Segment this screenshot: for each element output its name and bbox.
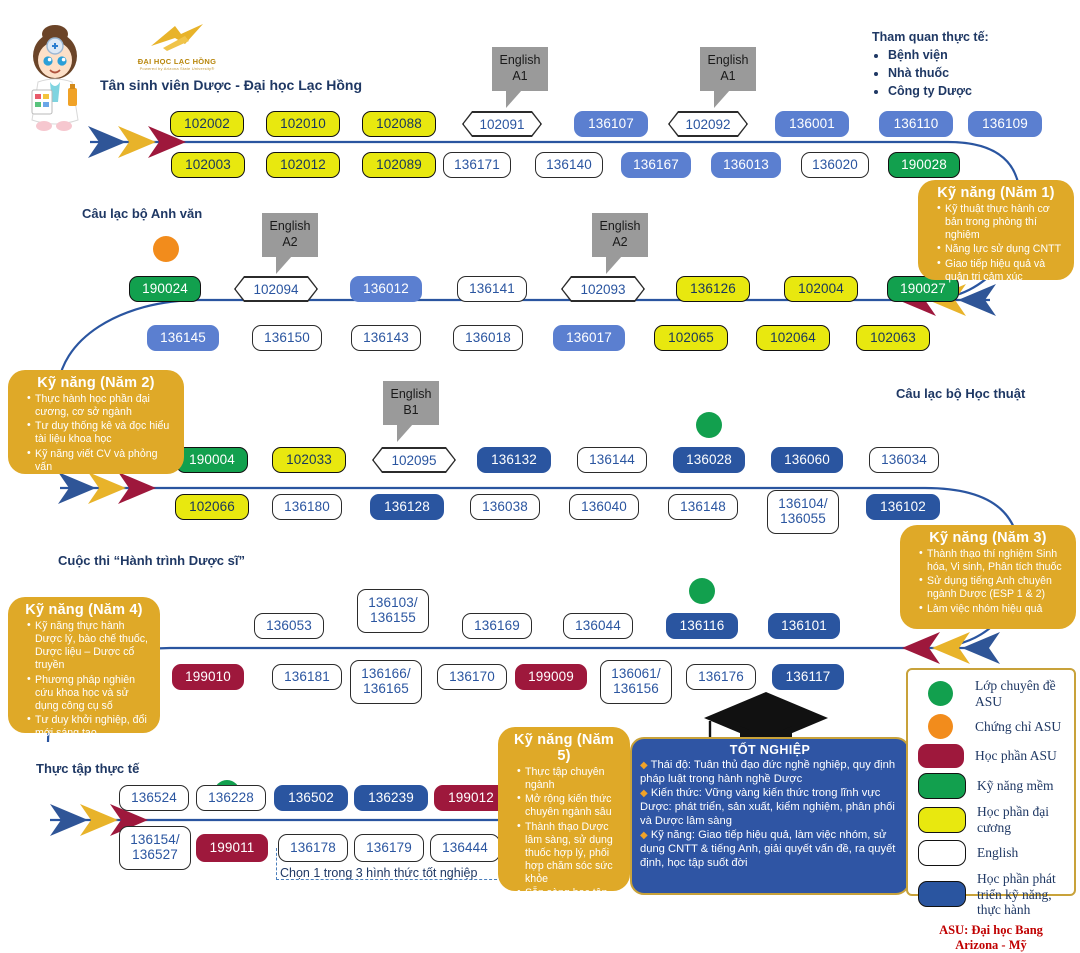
legend-label: Kỹ năng mềm	[977, 778, 1054, 794]
english-course-label: 102094	[236, 278, 317, 301]
legend-swatch-soft-skill	[918, 773, 966, 799]
course-pill[interactable]: 136110	[879, 111, 953, 137]
heading-english-club: Câu lạc bộ Anh văn	[82, 206, 202, 221]
course-pill[interactable]: 136145	[147, 325, 219, 351]
course-pill[interactable]: 136502	[274, 785, 348, 811]
legend-swatch-asu-seminar	[928, 681, 953, 706]
heading-academic-club: Câu lạc bộ Học thuật	[896, 386, 1025, 401]
skills-item: Tư duy khởi nghiệp, đổi mới sáng tạo	[28, 714, 152, 740]
course-pill[interactable]: 136038	[470, 494, 540, 520]
skills-item: Thành thạo Dược lâm sàng, sử dụng thuốc …	[518, 821, 622, 887]
legend-label: Học phần đại cương	[977, 804, 1064, 835]
course-pill[interactable]: 199012	[434, 785, 508, 811]
course-pill[interactable]: 136167	[621, 152, 691, 178]
field-trip-item: Bệnh viện	[888, 46, 989, 64]
course-pill[interactable]: 199009	[515, 664, 587, 690]
course-pill[interactable]: 136181	[272, 664, 342, 690]
skills-item: Phương pháp nghiên cứu khoa học và sử dụ…	[28, 674, 152, 713]
course-pill[interactable]: 136228	[196, 785, 266, 811]
course-pill[interactable]: 102063	[856, 325, 930, 351]
skills-item: Giao tiếp hiệu quả và quản trị cảm xúc	[938, 258, 1066, 284]
course-pill[interactable]: 136104/ 136055	[767, 490, 839, 534]
field-trip-list: Tham quan thực tế: Bệnh viện Nhà thuốc C…	[872, 30, 989, 100]
course-pill[interactable]: 136044	[563, 613, 633, 639]
skills-title: Kỹ năng (Năm 4)	[16, 602, 152, 618]
course-pill[interactable]: 136117	[772, 664, 844, 690]
english-callout: English A2	[592, 213, 648, 257]
skills-item: Thành thạo thí nghiệm Sinh hóa, Vi sinh,…	[920, 548, 1068, 574]
pharmacist-mascot-icon	[16, 22, 94, 142]
english-callout-label: English A1	[708, 53, 749, 84]
graduation-option-label: Chọn 1 trong 3 hình thức tốt nghiệp	[280, 866, 477, 880]
legend-label: Chứng chỉ ASU	[975, 719, 1061, 735]
course-pill[interactable]: 136150	[252, 325, 322, 351]
course-pill[interactable]: 136154/ 136527	[119, 826, 191, 870]
university-logo: ĐẠI HỌC LẠC HỒNG Powered by Arizona Stat…	[122, 22, 232, 71]
course-pill[interactable]: 136107	[574, 111, 648, 137]
course-pill[interactable]: 136169	[462, 613, 532, 639]
course-pill[interactable]: 136102	[866, 494, 940, 520]
legend-row: English	[918, 840, 1064, 866]
english-callout: English A1	[492, 47, 548, 91]
legend-row: Học phần ASU	[918, 744, 1064, 768]
course-pill[interactable]: 190024	[129, 276, 201, 302]
course-pill[interactable]: 136144	[577, 447, 647, 473]
english-course-label: 102091	[464, 113, 541, 136]
course-pill[interactable]: 190028	[888, 152, 960, 178]
asu-certificate-dot-icon	[153, 236, 179, 262]
asu-seminar-dot-icon	[689, 578, 715, 604]
course-pill[interactable]: 136180	[272, 494, 342, 520]
english-callout-label: English A1	[500, 53, 541, 84]
course-pill[interactable]: 199010	[172, 664, 244, 690]
course-pill[interactable]: 136012	[350, 276, 422, 302]
course-pill[interactable]: 136017	[553, 325, 625, 351]
skills-box-year5: Kỹ năng (Năm 5) Thực tập chuyên ngành Mở…	[498, 727, 630, 891]
course-pill[interactable]: 136239	[354, 785, 428, 811]
course-pill[interactable]: 102088	[362, 111, 436, 137]
skills-item: Sẵn sàng học tập suốt đời và phát triển …	[518, 887, 622, 940]
skills-item: Thực tập chuyên ngành	[518, 766, 622, 792]
course-pill[interactable]: 136101	[768, 613, 840, 639]
english-course-pill[interactable]: 102094	[234, 276, 318, 302]
legend-row: Kỹ năng mềm	[918, 773, 1064, 799]
arrow-row3	[58, 472, 156, 504]
heading-internship: Thực tập thực tế	[36, 761, 139, 776]
course-pill[interactable]: 136109	[968, 111, 1042, 137]
course-pill[interactable]: 102004	[784, 276, 858, 302]
course-pill[interactable]: 136053	[254, 613, 324, 639]
english-callout: English A1	[700, 47, 756, 91]
course-pill[interactable]: 136141	[457, 276, 527, 302]
course-pill[interactable]: 102002	[170, 111, 244, 137]
legend-label: English	[977, 845, 1018, 861]
field-trip-item: Công ty Dược	[888, 82, 989, 100]
course-pill[interactable]: 102065	[654, 325, 728, 351]
heading-contest: Cuộc thi “Hành trình Dược sĩ”	[58, 553, 245, 568]
course-pill[interactable]: 136061/ 136156	[600, 660, 672, 704]
course-pill[interactable]: 102089	[362, 152, 436, 178]
course-pill[interactable]: 136171	[443, 152, 511, 178]
course-pill[interactable]: 102066	[175, 494, 249, 520]
course-pill[interactable]: 136143	[351, 325, 421, 351]
skills-item: Năng lực sử dụng CNTT	[938, 243, 1066, 256]
diamond-bullet-icon: ◆	[640, 788, 648, 799]
legend-swatch-english	[918, 840, 966, 866]
course-pill[interactable]: 136103/ 136155	[357, 589, 429, 633]
course-pill[interactable]: 136176	[686, 664, 756, 690]
course-pill[interactable]: 136148	[668, 494, 738, 520]
legend-row: Học phần phát triển kỹ năng, thực hành	[918, 871, 1064, 918]
english-callout-label: English A2	[600, 219, 641, 250]
english-callout-label: English B1	[391, 387, 432, 418]
course-pill[interactable]: 136020	[801, 152, 869, 178]
course-pill[interactable]: 136028	[673, 447, 745, 473]
legend-note: ASU: Đại học Bang Arizona - Mỹ	[918, 923, 1064, 953]
english-course-pill[interactable]: 102091	[462, 111, 542, 137]
skills-box-year3: Kỹ năng (Năm 3) Thành thạo thí nghiệm Si…	[900, 525, 1076, 629]
legend-box: Lớp chuyên đề ASU Chứng chỉ ASU Học phần…	[906, 668, 1076, 896]
skills-item: Làm việc nhóm hiệu quả	[920, 603, 1068, 616]
skills-item: Tư duy thống kê và đọc hiểu tài liệu kho…	[28, 420, 176, 446]
legend-swatch-asu-course	[918, 744, 964, 768]
legend-swatch-asu-certificate	[928, 714, 953, 739]
asu-seminar-dot-icon	[696, 412, 722, 438]
course-pill[interactable]: 102033	[272, 447, 346, 473]
skills-item: Mở rộng kiến thức chuyên ngành sâu	[518, 793, 622, 819]
skills-box-year4: Kỹ năng (Năm 4) Kỹ năng thực hành Dược l…	[8, 597, 160, 733]
graduation-title: TỐT NGHIỆP	[640, 743, 900, 757]
course-pill[interactable]: 102010	[266, 111, 340, 137]
course-pill[interactable]: 136524	[119, 785, 189, 811]
english-course-label: 102092	[670, 113, 747, 136]
legend-swatch-general-course	[918, 807, 966, 833]
page-title: Tân sinh viên Dược - Đại học Lạc Hồng	[100, 77, 362, 93]
field-trip-item: Nhà thuốc	[888, 64, 989, 82]
legend-swatch-skill-practice	[918, 881, 966, 907]
course-pill[interactable]: 136001	[775, 111, 849, 137]
course-pill[interactable]: 199011	[196, 834, 268, 862]
graduation-outcomes-box: TỐT NGHIỆP ◆ Thái độ: Tuân thủ đạo đức n…	[630, 737, 910, 895]
english-callout-label: English A2	[270, 219, 311, 250]
skills-title: Kỹ năng (Năm 5)	[506, 732, 622, 764]
legend-row: Học phần đại cương	[918, 804, 1064, 835]
graduation-point: ◆ Thái độ: Tuân thủ đạo đức nghề nghiệp,…	[640, 759, 900, 786]
english-course-label: 102093	[563, 278, 644, 301]
arrow-row4	[902, 632, 1000, 664]
legend-label: Học phần phát triển kỹ năng, thực hành	[977, 871, 1064, 918]
legend-label: Lớp chuyên đề ASU	[975, 678, 1064, 709]
legend-row: Chứng chỉ ASU	[918, 714, 1064, 739]
english-callout: English B1	[383, 381, 439, 425]
skills-box-year2: Kỹ năng (Năm 2) Thực hành học phần đại c…	[8, 370, 184, 474]
english-course-pill[interactable]: 102093	[561, 276, 645, 302]
course-pill[interactable]: 136170	[437, 664, 507, 690]
bird-logo-icon	[145, 22, 209, 52]
logo-line2: Powered by Arizona State University®	[122, 66, 232, 71]
skills-item: Kỹ thuật thực hành cơ bản trong phòng th…	[938, 203, 1066, 242]
skills-title: Kỹ năng (Năm 3)	[908, 530, 1068, 546]
english-course-pill[interactable]: 102092	[668, 111, 748, 137]
skills-title: Kỹ năng (Năm 2)	[16, 375, 176, 391]
skills-item: Sử dụng tiếng Anh chuyên ngành Dược (ESP…	[920, 575, 1068, 601]
course-pill[interactable]: 136040	[569, 494, 639, 520]
logo-line1: ĐẠI HỌC LẠC HỒNG	[122, 57, 232, 66]
legend-row: Lớp chuyên đề ASU	[918, 678, 1064, 709]
field-trip-title: Tham quan thực tế:	[872, 30, 989, 44]
course-pill[interactable]: 136128	[370, 494, 444, 520]
course-pill[interactable]: 136060	[771, 447, 843, 473]
course-pill[interactable]: 102064	[756, 325, 830, 351]
course-pill[interactable]: 102012	[266, 152, 340, 178]
skills-box-year1: Kỹ năng (Năm 1) Kỹ thuật thực hành cơ bả…	[918, 180, 1074, 280]
course-pill[interactable]: 136166/ 136165	[350, 660, 422, 704]
graduation-point: ◆ Kỹ năng: Giao tiếp hiệu quả, làm việc …	[640, 829, 900, 870]
skills-item: Thực hành học phần đại cương, cơ sở ngàn…	[28, 393, 176, 419]
graduation-point: ◆ Kiến thức: Vững vàng kiến thức trong l…	[640, 787, 900, 828]
skills-item: Kỹ năng thực hành Dược lý, bào chế thuốc…	[28, 620, 152, 673]
course-pill[interactable]: 136013	[711, 152, 781, 178]
course-pill[interactable]: 136126	[676, 276, 750, 302]
course-pill[interactable]: 190004	[176, 447, 248, 473]
diamond-bullet-icon: ◆	[640, 830, 648, 841]
diamond-bullet-icon: ◆	[640, 760, 648, 771]
skills-title: Kỹ năng (Năm 1)	[926, 185, 1066, 201]
course-pill[interactable]: 136132	[477, 447, 551, 473]
course-pill[interactable]: 136116	[666, 613, 738, 639]
skills-item: Kỹ năng viết CV và phỏng vấn	[28, 448, 176, 474]
english-course-label: 102095	[374, 449, 455, 472]
english-course-pill[interactable]: 102095	[372, 447, 456, 473]
course-pill[interactable]: 136018	[453, 325, 523, 351]
legend-label: Học phần ASU	[975, 748, 1057, 764]
course-pill[interactable]: 136034	[869, 447, 939, 473]
english-callout: English A2	[262, 213, 318, 257]
course-pill[interactable]: 102003	[171, 152, 245, 178]
course-pill[interactable]: 136140	[535, 152, 603, 178]
